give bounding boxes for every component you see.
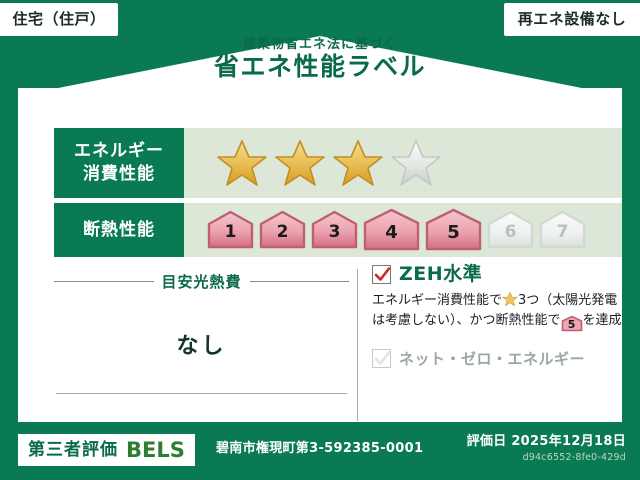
chip-number: 6 [505, 224, 517, 250]
star-icon [332, 138, 384, 188]
vertical-divider [357, 269, 358, 421]
insulation-performance-row: 断熱性能 1 [54, 203, 622, 257]
utility-cost-pane: 目安光熱費 なし [54, 265, 349, 445]
chip-number: 2 [277, 224, 289, 250]
chip-number: 5 [447, 224, 460, 252]
house-shape: 建築物省エネ法に基づく 省エネ性能ラベル エネルギー 消費性能 [18, 36, 622, 422]
insulation-level-chip: 5 [424, 208, 483, 252]
star-icon [274, 138, 326, 188]
energy-label-line1: エネルギー [74, 141, 164, 161]
zeh-desc-stars: 3つ（太陽光発電 [518, 293, 617, 308]
energy-label-root: 住宅（住戸） 再エネ設備なし 建築物省エネ法に基づく 省エネ性能ラベル エネルギ… [0, 0, 640, 480]
insulation-level-chip: 4 [362, 208, 421, 252]
zeh-desc-part1: エネルギー消費性能で [372, 293, 502, 308]
zeh-title-row: ZEH水準 [372, 265, 622, 284]
energy-performance-row: エネルギー 消費性能 [54, 128, 622, 198]
check-icon-faded [374, 350, 391, 367]
star-icon-empty [390, 138, 442, 188]
insulation-performance-label: 断熱性能 [54, 203, 184, 257]
zeh-desc-part3: を達成 [583, 313, 622, 328]
insulation-levels-panel: 1 2 3 [184, 203, 622, 257]
energy-stars-panel [184, 128, 622, 198]
insulation-level-chip: 1 [206, 210, 255, 250]
energy-performance-label: エネルギー 消費性能 [54, 128, 184, 198]
zeh-desc-part2: は考慮しない）、かつ断熱性能で [372, 313, 561, 328]
rule-left [54, 281, 154, 282]
star-icon [216, 138, 268, 188]
utility-cost-value: なし [54, 328, 349, 360]
zeh-title: ZEH水準 [399, 265, 482, 284]
check-icon [374, 266, 391, 283]
inline-chip-number: 5 [568, 318, 576, 331]
document-id: d94c6552-8fe0-429d [467, 453, 626, 463]
zeh-pane: ZEH水準 エネルギー消費性能で3つ（太陽光発電は考慮しない）、かつ断熱性能で5… [372, 265, 622, 445]
insulation-level-inline-chip: 5 [561, 315, 583, 332]
insulation-level-chip-inactive: 6 [486, 210, 535, 250]
building-type-tag: 住宅（住戸） [0, 3, 118, 36]
chip-number: 7 [557, 224, 569, 250]
utility-cost-bottom-rule [56, 393, 347, 394]
zeh-checkbox[interactable] [372, 265, 391, 284]
chip-number: 1 [225, 224, 237, 250]
renewable-equipment-tag: 再エネ設備なし [504, 3, 640, 36]
chip-number: 3 [329, 224, 341, 250]
chip-number: 4 [385, 224, 398, 252]
title-subtitle: 建築物省エネ法に基づく [18, 38, 622, 52]
rule-right [250, 281, 350, 282]
page-title: 建築物省エネ法に基づく 省エネ性能ラベル [18, 38, 622, 81]
label-content: エネルギー 消費性能 [54, 128, 622, 446]
utility-cost-label: 目安光熱費 [162, 271, 242, 292]
insulation-level-chip: 2 [258, 210, 307, 250]
star-icon-inline [502, 291, 518, 307]
net-zero-energy-label: ネット・ゼロ・エネルギー [399, 348, 585, 369]
net-zero-energy-row: ネット・ゼロ・エネルギー [372, 348, 622, 369]
insulation-level-chip: 3 [310, 210, 359, 250]
utility-cost-heading: 目安光熱費 [54, 271, 349, 292]
insulation-level-chip-inactive: 7 [538, 210, 587, 250]
energy-label-line2: 消費性能 [83, 164, 155, 184]
lower-section: 目安光熱費 なし ZEH水準 [54, 265, 622, 445]
zeh-description: エネルギー消費性能で3つ（太陽光発電は考慮しない）、かつ断熱性能で5を達成 [372, 291, 622, 332]
net-zero-energy-checkbox[interactable] [372, 349, 391, 368]
title-main: 省エネ性能ラベル [18, 54, 622, 80]
